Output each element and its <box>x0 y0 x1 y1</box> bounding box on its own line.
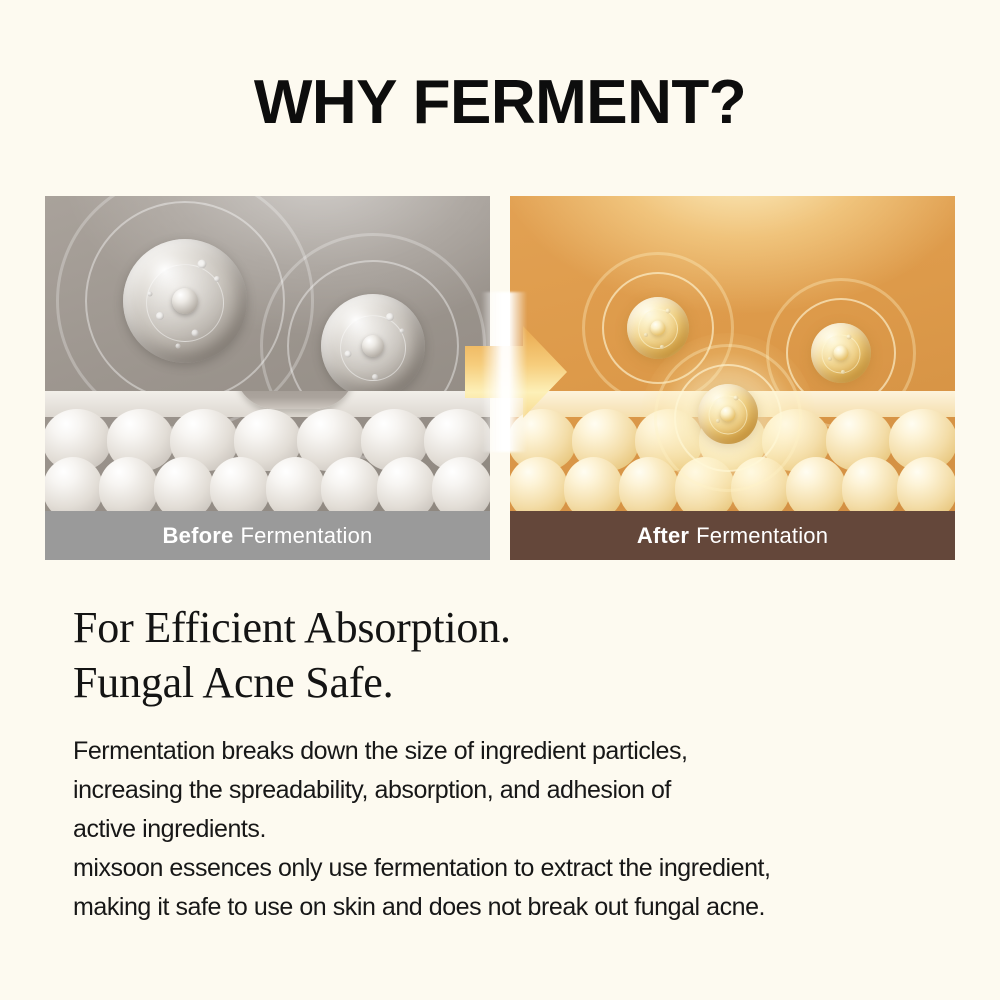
before-caption-rest: Fermentation <box>240 523 372 549</box>
particle-core <box>362 335 384 357</box>
particle-bubble <box>660 345 664 349</box>
skin-cell <box>675 457 735 511</box>
particle-core <box>651 321 666 336</box>
particle-bubble <box>386 313 394 321</box>
particle-bubble <box>148 291 153 296</box>
after-caption-rest: Fermentation <box>696 523 828 549</box>
skin-cell <box>510 457 568 511</box>
skin-cell <box>731 457 791 511</box>
headline-line-2: Fungal Acne Safe. <box>73 655 953 710</box>
skin-cell <box>210 457 270 511</box>
particle-bubble <box>175 343 180 348</box>
ingredient-particle-small <box>627 297 689 359</box>
particle-bubble <box>345 351 352 358</box>
skin-cell <box>321 457 381 511</box>
ingredient-particle-large <box>123 239 247 363</box>
arrow-light-flare <box>481 292 527 452</box>
skin-cell <box>564 457 624 511</box>
transition-arrow <box>445 320 575 424</box>
page-title: WHY FERMENT? <box>0 72 1000 134</box>
skin-cell <box>154 457 214 511</box>
particle-bubble <box>156 312 164 320</box>
particle-bubble <box>214 276 220 282</box>
particle-bubble <box>198 259 207 268</box>
skin-cell <box>377 457 437 511</box>
body-line-3: active ingredients. <box>73 810 953 849</box>
particle-bubble <box>841 370 845 374</box>
skin-cell <box>897 457 955 511</box>
before-illustration <box>45 196 490 511</box>
body-line-1: Fermentation breaks down the size of ing… <box>73 732 953 771</box>
body-line-4: mixsoon essences only use fermentation t… <box>73 849 953 888</box>
particle-bubble <box>372 374 378 380</box>
particle-core <box>834 346 849 361</box>
skin-cell <box>432 457 490 511</box>
skin-surface-dip <box>235 391 355 409</box>
skin-cell <box>619 457 679 511</box>
particle-bubble <box>847 335 852 340</box>
body-copy: Fermentation breaks down the size of ing… <box>73 732 953 927</box>
ingredient-particle-large <box>321 294 425 398</box>
body-line-5: making it safe to use on skin and does n… <box>73 888 953 927</box>
before-caption-bar: Before Fermentation <box>45 511 490 560</box>
before-skin-layer <box>45 391 490 511</box>
before-caption-strong: Before <box>163 523 234 549</box>
after-caption-bar: After Fermentation <box>510 511 955 560</box>
particle-bubble <box>665 308 670 313</box>
ingredient-particle-small <box>811 323 871 383</box>
skin-cell-row <box>45 457 490 511</box>
headline-line-1: For Efficient Absorption. <box>73 600 953 655</box>
skin-cell <box>45 457 103 511</box>
particle-core <box>172 288 198 314</box>
headline: For Efficient Absorption. Fungal Acne Sa… <box>73 600 953 711</box>
after-panel: After Fermentation <box>510 196 955 560</box>
skin-cell <box>266 457 326 511</box>
ingredient-particle-absorbing <box>698 384 758 444</box>
particle-core <box>721 407 736 422</box>
particle-bubble <box>716 419 720 423</box>
particle-bubble <box>644 333 648 337</box>
skin-cell <box>99 457 159 511</box>
particle-bubble <box>734 396 739 401</box>
body-line-2: increasing the spreadability, absorption… <box>73 771 953 810</box>
skin-cell <box>842 457 902 511</box>
particle-bubble <box>400 329 405 334</box>
skin-cell-row <box>510 457 955 511</box>
before-after-comparison: Before Fermentation <box>45 196 955 560</box>
after-illustration <box>510 196 955 511</box>
before-panel: Before Fermentation <box>45 196 490 560</box>
particle-bubble <box>191 330 198 337</box>
after-caption-strong: After <box>637 523 689 549</box>
skin-cell <box>786 457 846 511</box>
particle-bubble <box>828 357 832 361</box>
